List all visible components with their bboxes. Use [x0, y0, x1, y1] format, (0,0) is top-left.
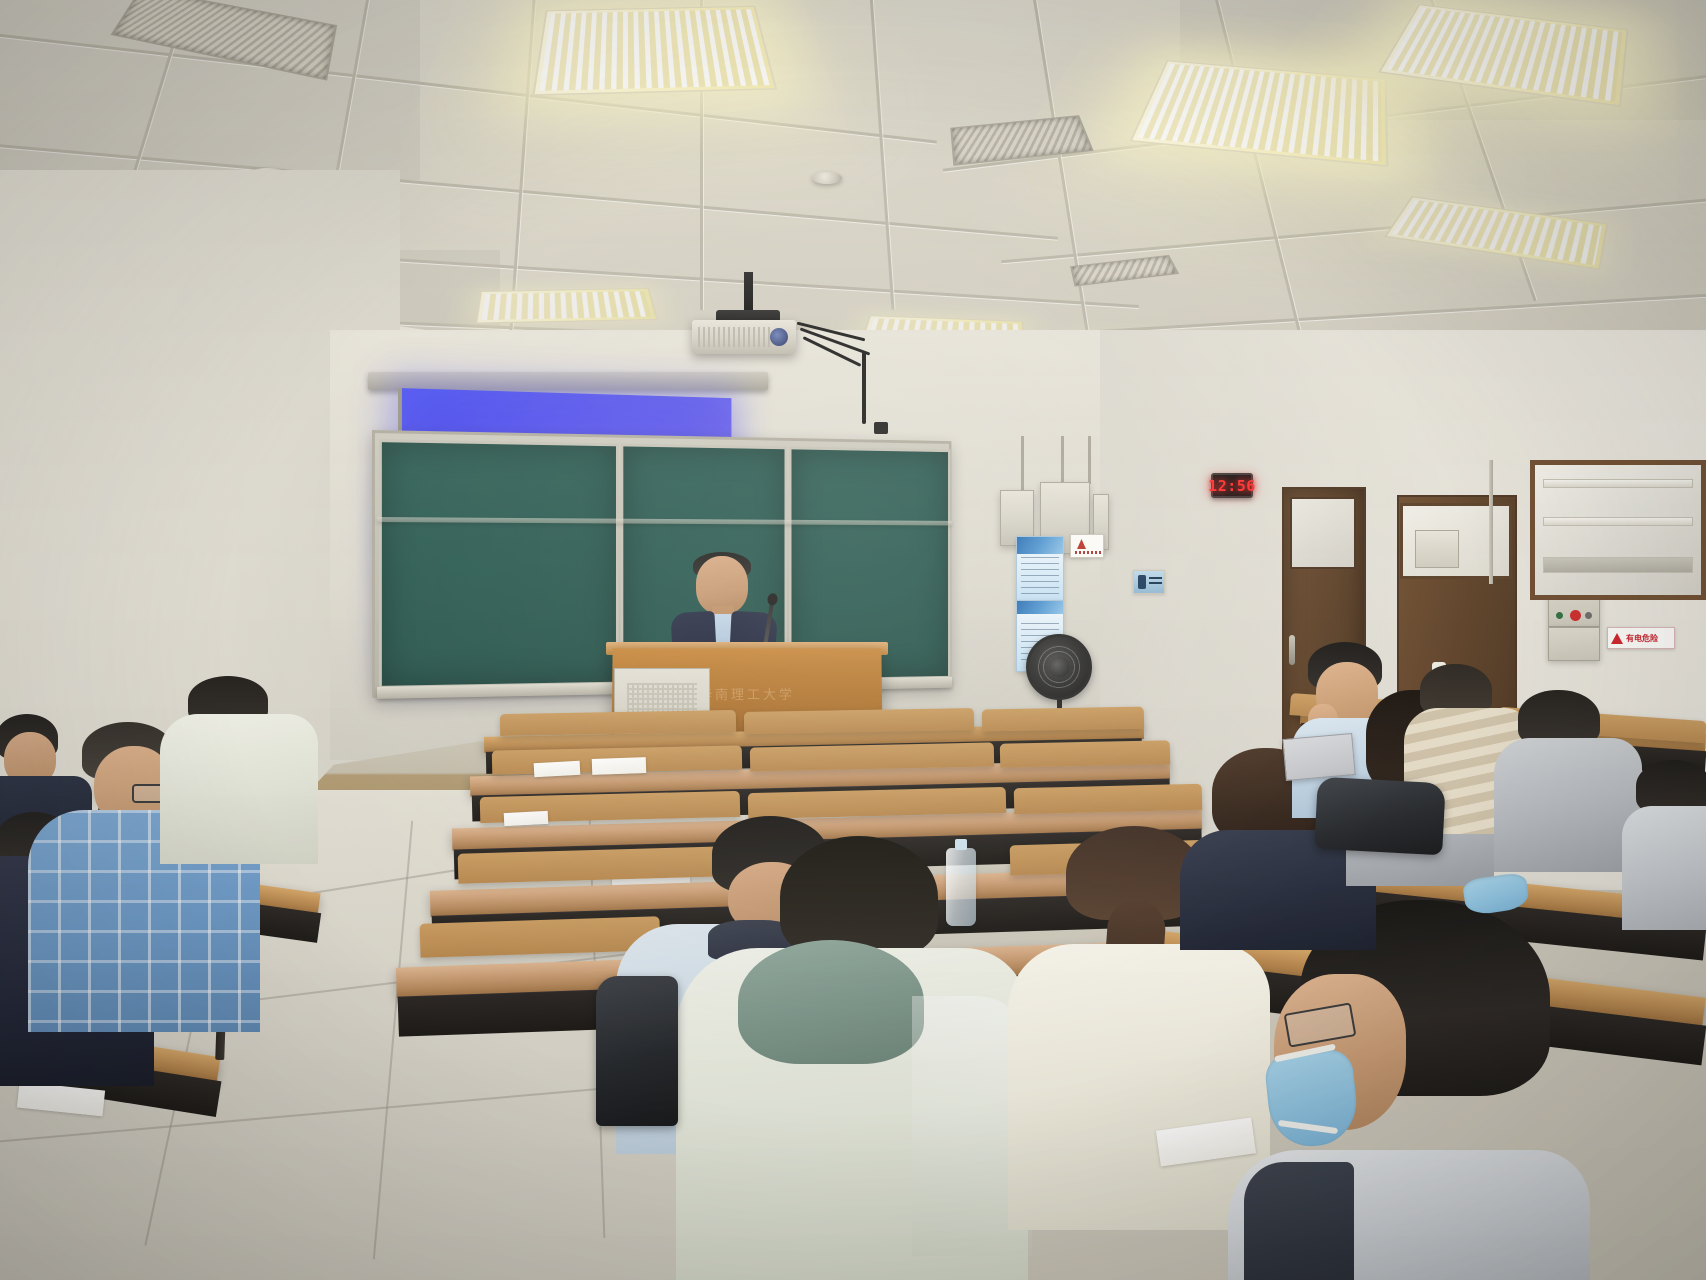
bench-back	[750, 742, 994, 771]
document-paper	[592, 757, 647, 775]
ceiling-light-fixture	[1384, 196, 1608, 270]
projector-lens-icon	[770, 328, 788, 346]
jacket-panel	[1244, 1162, 1354, 1280]
warning-text: 有电危险	[1626, 633, 1658, 644]
ceiling-light-fixture	[532, 6, 777, 96]
backpack	[596, 976, 678, 1126]
digital-wall-clock: 12:56	[1211, 473, 1253, 498]
wall-socket-plate	[1415, 530, 1459, 568]
hvac-vent	[1070, 255, 1179, 287]
hvac-vent	[950, 115, 1094, 166]
warning-triangle-icon	[1611, 633, 1623, 644]
lecture-hall-photo: 应用化学专业工程教育论证推进会 2022. 11. 2 12:56	[0, 0, 1706, 1280]
ceiling-light-fixture	[1130, 60, 1389, 167]
bench-back	[500, 710, 736, 736]
student-masked-glasses	[1228, 900, 1598, 1280]
laptop[interactable]	[1282, 733, 1355, 781]
clock-time: 12:56	[1208, 477, 1256, 495]
bench-back	[744, 708, 974, 734]
attendee-cream-shirt	[160, 676, 320, 876]
bench-back	[1014, 784, 1203, 815]
hoodie-hood	[738, 940, 924, 1064]
classroom-notice-poster	[1016, 536, 1064, 602]
ceiling-light-fixture	[475, 288, 658, 324]
fan-hub-icon	[1048, 656, 1070, 678]
door-window	[1290, 497, 1356, 569]
student-sage-hoodie	[676, 836, 1036, 1280]
attendee-torso	[1622, 806, 1706, 930]
electrical-warning-sign: 有电危险	[1607, 627, 1675, 649]
bench-back	[982, 707, 1144, 732]
bench-back	[1000, 740, 1170, 768]
attendee-torso	[160, 714, 318, 864]
corridor-window	[1530, 460, 1706, 600]
student-hair	[780, 836, 938, 958]
equipment-label	[1133, 570, 1165, 594]
document-paper	[534, 761, 581, 777]
smoke-detector-icon	[812, 172, 842, 184]
backpack	[1314, 777, 1446, 856]
document-paper	[504, 811, 549, 826]
attendee-back-right	[1622, 760, 1706, 920]
door-handle-icon[interactable]	[1289, 635, 1295, 665]
attendee-torso	[1494, 738, 1642, 872]
conduit-pipe	[1489, 460, 1493, 584]
fire-safety-card	[1070, 534, 1104, 558]
screen-housing	[368, 372, 768, 390]
projector-mount-pole	[744, 272, 753, 314]
face-mask	[1263, 1048, 1360, 1151]
electrical-panel-lower	[1548, 627, 1600, 661]
